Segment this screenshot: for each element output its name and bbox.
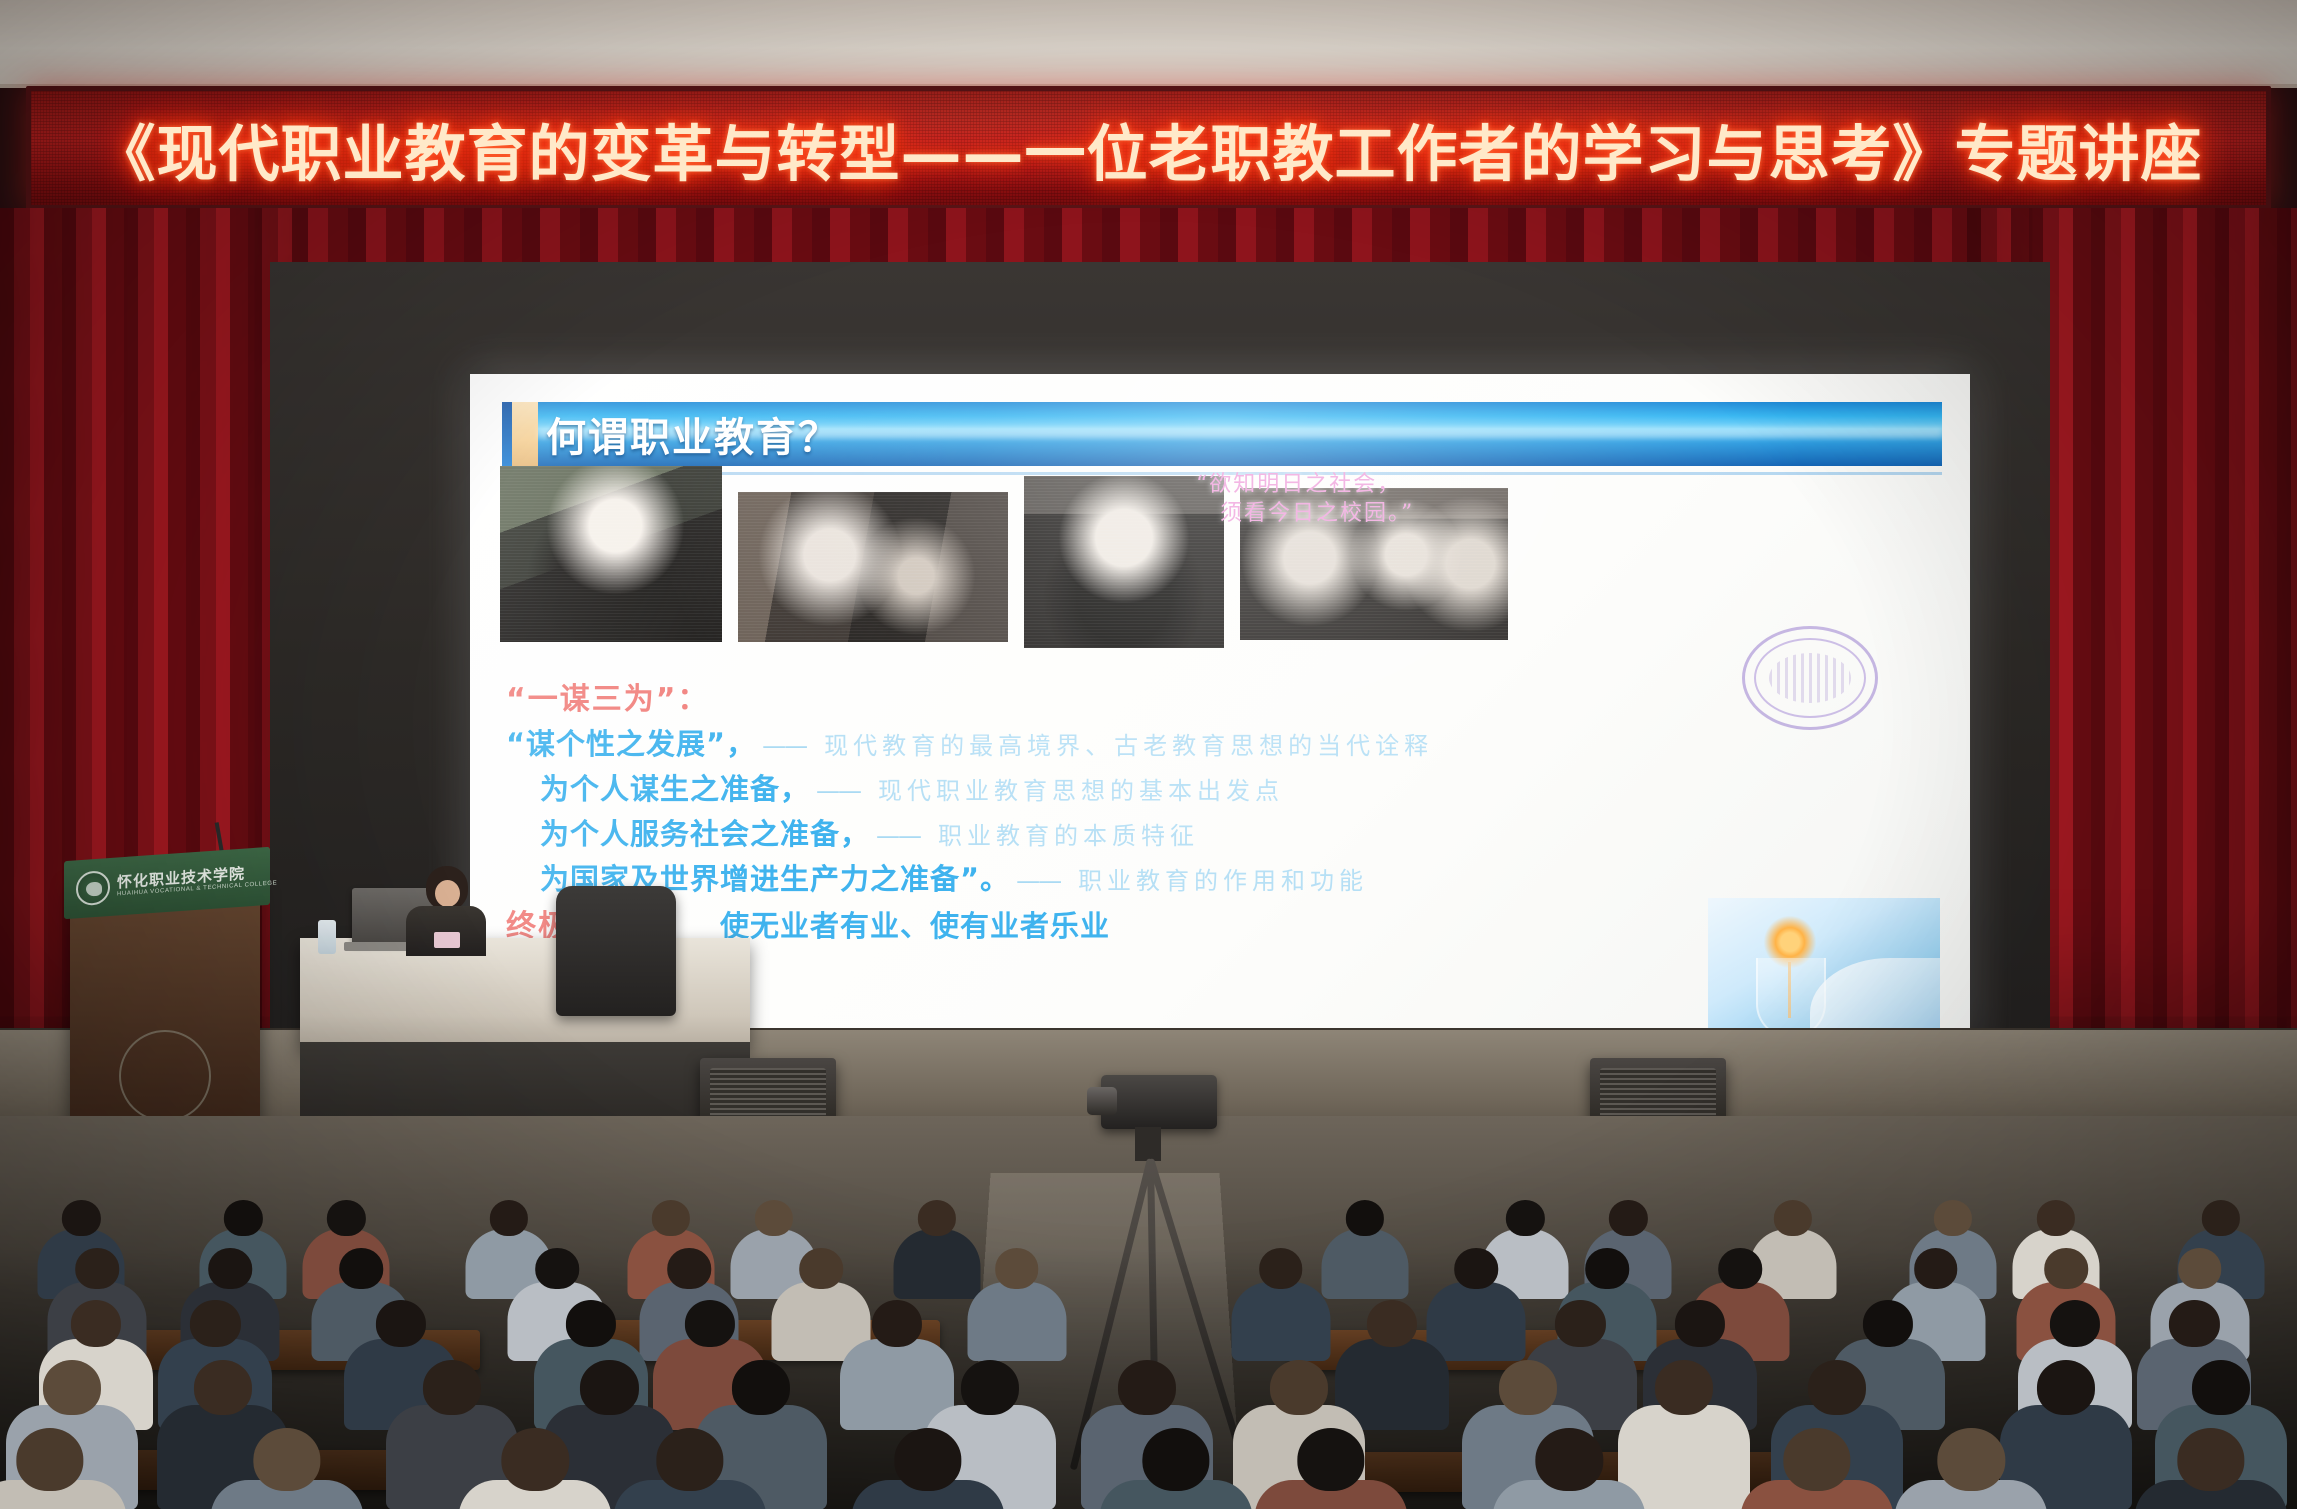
audience-head xyxy=(1808,1360,1866,1415)
tripod-head xyxy=(1135,1127,1161,1161)
audience-head xyxy=(799,1248,843,1289)
audience-head xyxy=(376,1300,426,1347)
audience-head xyxy=(995,1248,1039,1289)
audience-head xyxy=(1506,1200,1544,1236)
audience-head xyxy=(253,1428,320,1491)
audience-shoulders xyxy=(1231,1282,1330,1361)
slide-line-dash: —— xyxy=(816,777,860,805)
slide-quote: “欲知明日之社会， 须看今日之校园。” xyxy=(1196,470,1526,529)
audience-head xyxy=(340,1248,384,1289)
audience-head xyxy=(566,1300,616,1347)
speaker-name-badge xyxy=(434,932,460,948)
lecture-hall-photo: 《现代职业教育的变革与转型——一位老职教工作者的学习与思考》专题讲座 xyxy=(0,0,2297,1509)
audience-head xyxy=(1270,1360,1328,1415)
audience-member xyxy=(1895,1428,2048,1509)
slide-body-line: 为国家及世界增进生产力之准备”。 —— 职业教育的作用和功能 xyxy=(506,856,1954,898)
slide-title-accent-gold xyxy=(512,402,538,466)
audience-head xyxy=(2192,1360,2250,1415)
audience-head xyxy=(918,1200,956,1236)
slide-line-note: 职业教育的作用和功能 xyxy=(1078,861,1368,896)
audience-head xyxy=(1862,1300,1912,1347)
audience-head xyxy=(1655,1360,1713,1415)
audience-head xyxy=(2044,1248,2088,1289)
audience-head xyxy=(685,1300,735,1347)
audience-head xyxy=(209,1248,253,1289)
audience-member xyxy=(967,1248,1066,1368)
audience-head xyxy=(1783,1428,1850,1491)
ceiling xyxy=(0,0,2297,88)
audience-head xyxy=(423,1360,481,1415)
audience-head xyxy=(1609,1200,1647,1236)
audience-head xyxy=(224,1200,262,1236)
audience-head xyxy=(43,1360,101,1415)
audience-head xyxy=(16,1428,83,1491)
audience-member xyxy=(0,1428,126,1509)
slide-line-main: 为个人谋生之准备， xyxy=(540,766,810,808)
audience-head xyxy=(580,1360,638,1415)
audience-head xyxy=(71,1300,121,1347)
video-camera xyxy=(1101,1075,1217,1129)
audience-head xyxy=(2177,1428,2244,1491)
slide-heading-line: “一谋三为”： xyxy=(506,674,1954,718)
audience-head xyxy=(652,1200,690,1236)
audience-head xyxy=(190,1300,240,1347)
audience-head xyxy=(656,1428,723,1491)
audience-head xyxy=(2037,1200,2075,1236)
audience-member xyxy=(1321,1200,1408,1306)
slide-title-bar: 何谓职业教育？ xyxy=(502,402,1942,466)
audience-head xyxy=(502,1428,569,1491)
lectern-name-text: 怀化职业技术学院 HUAIHUA VOCATIONAL & TECHNICAL … xyxy=(117,863,277,898)
slide-line-dash: —— xyxy=(876,822,920,850)
audience-head xyxy=(1118,1360,1176,1415)
audience-head xyxy=(1718,1248,1762,1289)
slide-body-line: 为个人服务社会之准备， —— 职业教育的本质特征 xyxy=(506,811,1954,853)
audience-head xyxy=(490,1200,528,1236)
slide-line-dash: —— xyxy=(762,732,806,760)
head-table xyxy=(300,938,750,1048)
led-banner-text: 《现代职业教育的变革与转型——一位老职教工作者的学习与思考》专题讲座 xyxy=(31,91,2266,205)
audience-head xyxy=(1259,1248,1303,1289)
slide-line-main: 为个人服务社会之准备， xyxy=(540,811,870,853)
slide-line-note: 职业教育的本质特征 xyxy=(938,816,1199,851)
college-logo-icon xyxy=(76,870,110,906)
slide-body-line: “谋个性之发展”， —— 现代教育的最高境界、古老教育思想的当代诠释 xyxy=(506,721,1954,763)
audience-head xyxy=(1346,1200,1384,1236)
audience-member xyxy=(2134,1428,2287,1509)
slide-final-text: 使无业者有业、使有业者乐业 xyxy=(720,903,1110,945)
audience-head xyxy=(1675,1300,1725,1347)
audience-head xyxy=(961,1360,1019,1415)
slide-quote-line-2: 须看今日之校园。” xyxy=(1220,499,1526,528)
audience-head xyxy=(1454,1248,1498,1289)
slide-title-accent-blue xyxy=(502,402,512,466)
slide-photo-portrait-3 xyxy=(1024,476,1224,648)
audience-head xyxy=(1536,1428,1603,1491)
audience-head xyxy=(2050,1300,2100,1347)
audience-head xyxy=(62,1200,100,1236)
audience-shoulders xyxy=(967,1282,1066,1361)
slide-photo-portrait-2 xyxy=(738,492,1008,642)
slide-quote-line-1: “欲知明日之社会， xyxy=(1196,472,1401,497)
audience-head xyxy=(535,1248,579,1289)
slide-line-note: 现代教育的最高境界、古老教育思想的当代诠释 xyxy=(824,726,1433,761)
audience-member xyxy=(1493,1428,1646,1509)
slide-photo-portrait-1 xyxy=(500,466,722,642)
audience-member xyxy=(614,1428,767,1509)
water-bottle xyxy=(318,920,336,954)
audience-member xyxy=(1254,1428,1407,1509)
led-banner: 《现代职业教育的变革与转型——一位老职教工作者的学习与思考》专题讲座 xyxy=(26,86,2271,210)
lectern-emblem xyxy=(119,1030,211,1122)
camera-lens xyxy=(1087,1087,1117,1115)
speaker-face xyxy=(435,880,460,907)
audience-head xyxy=(1297,1428,1364,1491)
audience-head xyxy=(76,1248,120,1289)
audience-head xyxy=(1774,1200,1812,1236)
audience-head xyxy=(872,1300,922,1347)
audience-member xyxy=(1100,1428,1253,1509)
audience-member xyxy=(851,1428,1004,1509)
audience-head xyxy=(2202,1200,2240,1236)
audience-head xyxy=(1585,1248,1629,1289)
slide-line-note: 现代职业教育思想的基本出发点 xyxy=(878,771,1284,806)
speaker-body xyxy=(406,906,486,956)
audience-member xyxy=(210,1428,363,1509)
audience-head xyxy=(668,1248,712,1289)
audience-head xyxy=(1142,1428,1209,1491)
audience-head xyxy=(894,1428,961,1491)
lectern: 怀化职业技术学院 HUAIHUA VOCATIONAL & TECHNICAL … xyxy=(70,880,260,1150)
audience-head xyxy=(194,1360,252,1415)
audience-member xyxy=(1740,1428,1893,1509)
audience-shoulders xyxy=(1321,1229,1408,1299)
audience-member xyxy=(1231,1248,1330,1368)
audience-head xyxy=(2178,1248,2222,1289)
audience-head xyxy=(2169,1300,2219,1347)
speaker xyxy=(404,866,486,952)
office-chair xyxy=(556,886,676,1016)
audience-head xyxy=(755,1200,793,1236)
audience-head xyxy=(732,1360,790,1415)
slide-line-main: “谋个性之发展”， xyxy=(506,721,756,763)
slide-heading: “一谋三为”： xyxy=(506,674,709,718)
audience-head xyxy=(1933,1200,1971,1236)
audience-head xyxy=(2037,1360,2095,1415)
audience-head xyxy=(1499,1360,1557,1415)
slide-line-dash: —— xyxy=(1016,867,1060,895)
audience-head xyxy=(1938,1428,2005,1491)
audience-head xyxy=(1555,1300,1605,1347)
slide-body-line: 为个人谋生之准备， —— 现代职业教育思想的基本出发点 xyxy=(506,766,1954,808)
audience-head xyxy=(1367,1300,1417,1347)
audience-member xyxy=(459,1428,612,1509)
audience-head xyxy=(327,1200,365,1236)
slide-title: 何谓职业教育？ xyxy=(546,405,840,463)
audience-head xyxy=(1914,1248,1958,1289)
slide-decorative-flower-image xyxy=(1708,898,1940,1044)
